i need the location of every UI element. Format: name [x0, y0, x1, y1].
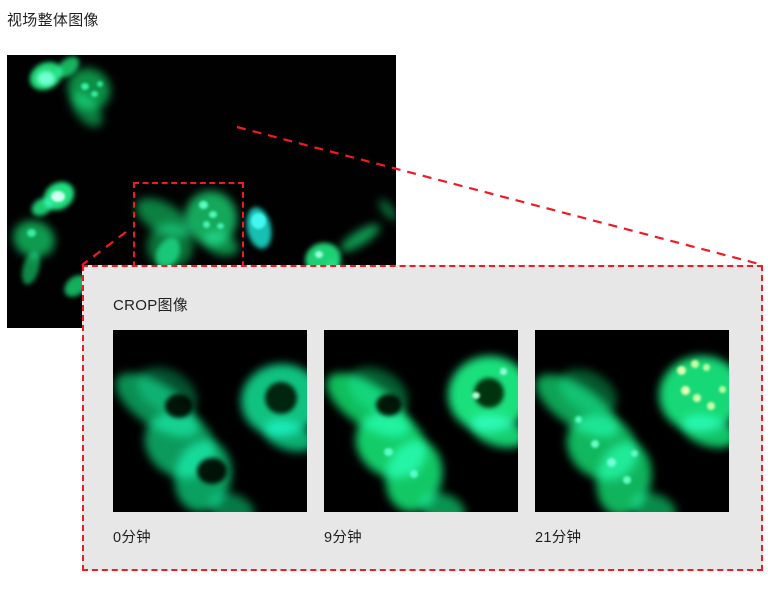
fluorescent-cell	[27, 229, 36, 237]
fluorescent-punctum	[693, 394, 701, 402]
fluorescent-cell	[251, 213, 266, 229]
crop-thumb-21min[interactable]	[535, 330, 729, 512]
fluorescent-punctum	[681, 386, 690, 395]
fluorescent-cell	[315, 251, 323, 258]
crop-panel-title: CROP图像	[113, 296, 188, 316]
fluorescent-cell	[376, 197, 396, 223]
crop-frame-21min[interactable]: 21分钟	[535, 330, 729, 548]
fluorescent-punctum	[691, 360, 699, 368]
fluorescent-punctum	[677, 366, 686, 375]
crop-frame-9min[interactable]: 9分钟	[324, 330, 518, 548]
nucleus-ring	[265, 382, 297, 414]
fluorescent-punctum	[500, 368, 507, 375]
fluorescent-punctum	[410, 470, 418, 478]
fluorescent-punctum	[472, 392, 480, 399]
fluorescent-punctum	[384, 448, 393, 456]
fluorescent-cell	[51, 191, 65, 202]
nucleus-shadow	[197, 458, 227, 484]
crop-thumb-9min[interactable]	[324, 330, 518, 512]
fluorescent-punctum	[591, 440, 599, 448]
crop-caption: 9分钟	[324, 528, 518, 548]
nucleus-shadow	[376, 394, 402, 416]
fluorescent-punctum	[631, 450, 638, 457]
crop-detail-panel: CROP图像 0分钟	[82, 265, 763, 571]
fluorescent-punctum	[607, 458, 616, 467]
nucleus-shadow	[165, 394, 193, 418]
fluorescent-cell	[81, 83, 89, 90]
crop-thumb-0min[interactable]	[113, 330, 307, 512]
crop-frame-list: 0分钟 9分钟	[113, 330, 747, 548]
crop-caption: 21分钟	[535, 528, 729, 548]
fluorescent-punctum	[707, 402, 715, 410]
fluorescent-punctum	[623, 476, 631, 484]
crop-caption: 0分钟	[113, 528, 307, 548]
fluorescent-cell	[91, 91, 98, 97]
fluorescent-punctum	[575, 416, 582, 423]
fluorescent-punctum	[703, 364, 710, 371]
fluorescent-cell	[37, 71, 55, 86]
crop-frame-0min[interactable]: 0分钟	[113, 330, 307, 548]
fluorescent-cell	[337, 220, 383, 256]
page-title: 视场整体图像	[7, 11, 99, 31]
fluorescent-cell	[97, 81, 103, 87]
fluorescent-punctum	[719, 386, 726, 393]
